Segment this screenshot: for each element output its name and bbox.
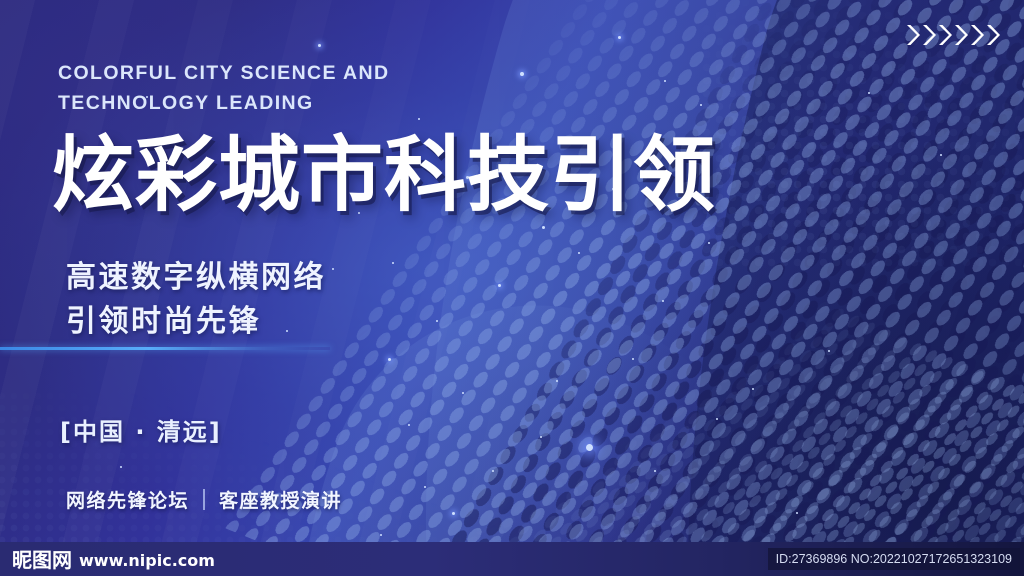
watermark: 昵图网 www.nipic.com xyxy=(12,549,215,571)
chevron-arrow-group xyxy=(905,24,1000,46)
asset-id-label: ID:27369896 NO:20221027172651323109 xyxy=(768,548,1020,570)
subheadline-line-1: 高速数字纵横网络 xyxy=(66,256,326,300)
chevron-right-icon xyxy=(937,24,952,46)
subheadline: 高速数字纵横网络 引领时尚先锋 xyxy=(66,256,326,344)
tagline-separator xyxy=(203,489,205,510)
subheadline-line-2: 引领时尚先锋 xyxy=(66,300,326,344)
chevron-right-icon xyxy=(953,24,968,46)
location-label: [中国 · 清远] xyxy=(60,412,222,447)
accent-divider-line xyxy=(0,347,330,350)
chevron-right-icon xyxy=(969,24,984,46)
watermark-brand-icon: 昵图网 xyxy=(12,549,72,571)
chevron-right-icon xyxy=(985,24,1000,46)
chevron-right-icon xyxy=(921,24,936,46)
watermark-url: www.nipic.com xyxy=(79,551,215,571)
tagline-row: 网络先锋论坛 客座教授演讲 xyxy=(66,486,342,513)
footer-bar: 昵图网 www.nipic.com ID:27369896 NO:2022102… xyxy=(0,542,1024,576)
eyebrow-text: Colorful City Science and Technology Lea… xyxy=(58,58,528,118)
tagline-left-text: 网络先锋论坛 xyxy=(66,486,189,513)
chevron-right-icon xyxy=(905,24,920,46)
page-title: 炫彩城市科技引领 xyxy=(52,128,716,224)
poster-content: Colorful City Science and Technology Lea… xyxy=(0,0,1024,576)
poster-canvas: Colorful City Science and Technology Lea… xyxy=(0,0,1024,576)
tagline-right-text: 客座教授演讲 xyxy=(219,486,342,513)
